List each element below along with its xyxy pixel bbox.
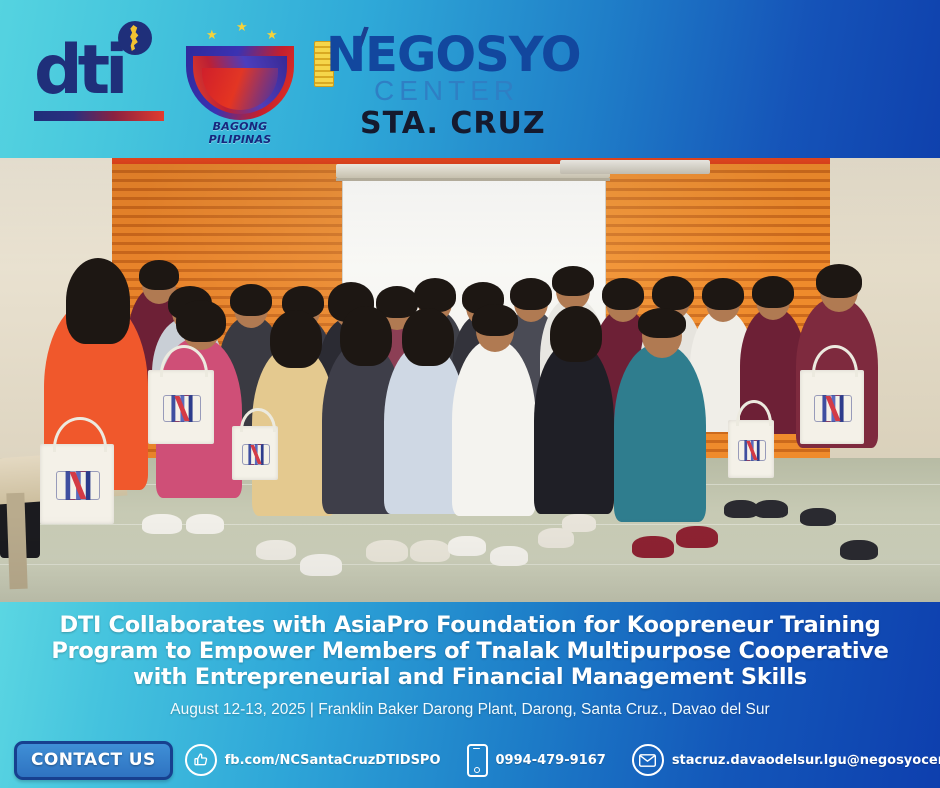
shoe — [632, 536, 674, 558]
participant-hair — [652, 276, 694, 310]
facebook-handle: fb.com/NCSantaCruzDTIDSPO — [225, 753, 441, 768]
tote-bag — [800, 370, 864, 444]
participant-hair — [402, 308, 454, 366]
participant-hair — [230, 284, 272, 316]
negosyo-center-logo: NEGOSYO CENTER STA. CRUZ — [312, 19, 572, 139]
participant-hair — [414, 278, 456, 312]
shoe — [800, 508, 836, 526]
shoe — [410, 540, 450, 562]
center-wordmark: CENTER — [374, 77, 519, 105]
dti-wordmark: dti — [34, 37, 124, 105]
participant-hair — [340, 306, 392, 366]
dti-gradient-bar — [34, 111, 164, 121]
participant-hair — [816, 264, 862, 298]
phone-contact[interactable]: 0994-479-9167 — [467, 744, 606, 777]
tote-bag — [148, 370, 214, 444]
bagong-pilipinas-logo: ★ ★ ★ — [184, 14, 296, 144]
participant-hair — [550, 306, 602, 362]
phone-number: 0994-479-9167 — [496, 753, 606, 768]
tote-bag — [232, 426, 278, 480]
air-conditioner — [560, 160, 710, 174]
tote-bag — [40, 444, 114, 524]
email-contact[interactable]: stacruz.davaodelsur.lgu@negosyocenter.go… — [632, 744, 940, 776]
desk-leg — [6, 493, 27, 590]
shoe — [448, 536, 486, 556]
branch-name: STA. CRUZ — [360, 109, 546, 139]
smartphone-icon — [467, 744, 488, 777]
shoe — [366, 540, 408, 562]
caption-footer-band: DTI Collaborates with AsiaPro Foundation… — [0, 602, 940, 788]
participant-hair — [602, 278, 644, 310]
shoe — [300, 554, 342, 576]
screen-seam — [336, 178, 610, 181]
email-address: stacruz.davaodelsur.lgu@negosyocenter.go… — [672, 753, 940, 768]
bagong-pilipinas-caption: BAGONG PILIPINAS — [184, 120, 296, 146]
shoe — [142, 514, 182, 534]
thumbs-up-icon — [185, 744, 217, 776]
shoe — [186, 514, 224, 534]
shoe — [724, 500, 758, 518]
shoe — [676, 526, 718, 548]
event-photo — [0, 158, 940, 602]
headline-text: DTI Collaborates with AsiaPro Foundation… — [40, 612, 900, 690]
header-banner: dti ★ ★ ★ — [0, 0, 940, 158]
participant — [534, 342, 614, 514]
participant-hair — [702, 278, 744, 310]
shoe — [256, 540, 296, 560]
participant-hair — [752, 276, 794, 308]
dti-logo: dti — [28, 19, 178, 139]
participant-hair — [472, 304, 518, 336]
facebook-contact[interactable]: fb.com/NCSantaCruzDTIDSPO — [185, 744, 441, 776]
participant-hair — [139, 260, 179, 290]
participant — [452, 340, 536, 516]
negosyo-wordmark: NEGOSYO — [326, 31, 581, 79]
logo-row: dti ★ ★ ★ — [0, 0, 940, 158]
participant-hair — [638, 308, 686, 338]
philippines-map-seal-icon — [118, 21, 152, 55]
shoe — [490, 546, 528, 566]
participant-hair — [510, 278, 552, 310]
participant-hair — [552, 266, 594, 296]
participant-hair — [270, 310, 322, 368]
contact-bar: CONTACT US fb.com/NCSantaCruzDTIDSPO 099… — [0, 732, 940, 788]
participant — [614, 344, 706, 522]
participant-hair — [176, 300, 226, 342]
shoe — [562, 514, 596, 532]
tote-bag — [728, 420, 774, 478]
shoe — [840, 540, 878, 560]
participant-hair — [66, 258, 130, 344]
shoe — [754, 500, 788, 518]
ribbon-bowl-icon — [186, 46, 294, 120]
contact-us-button[interactable]: CONTACT US — [14, 741, 173, 780]
event-details-text: August 12-13, 2025 | Franklin Baker Daro… — [40, 700, 900, 720]
poster: dti ★ ★ ★ — [0, 0, 940, 788]
envelope-icon — [632, 744, 664, 776]
